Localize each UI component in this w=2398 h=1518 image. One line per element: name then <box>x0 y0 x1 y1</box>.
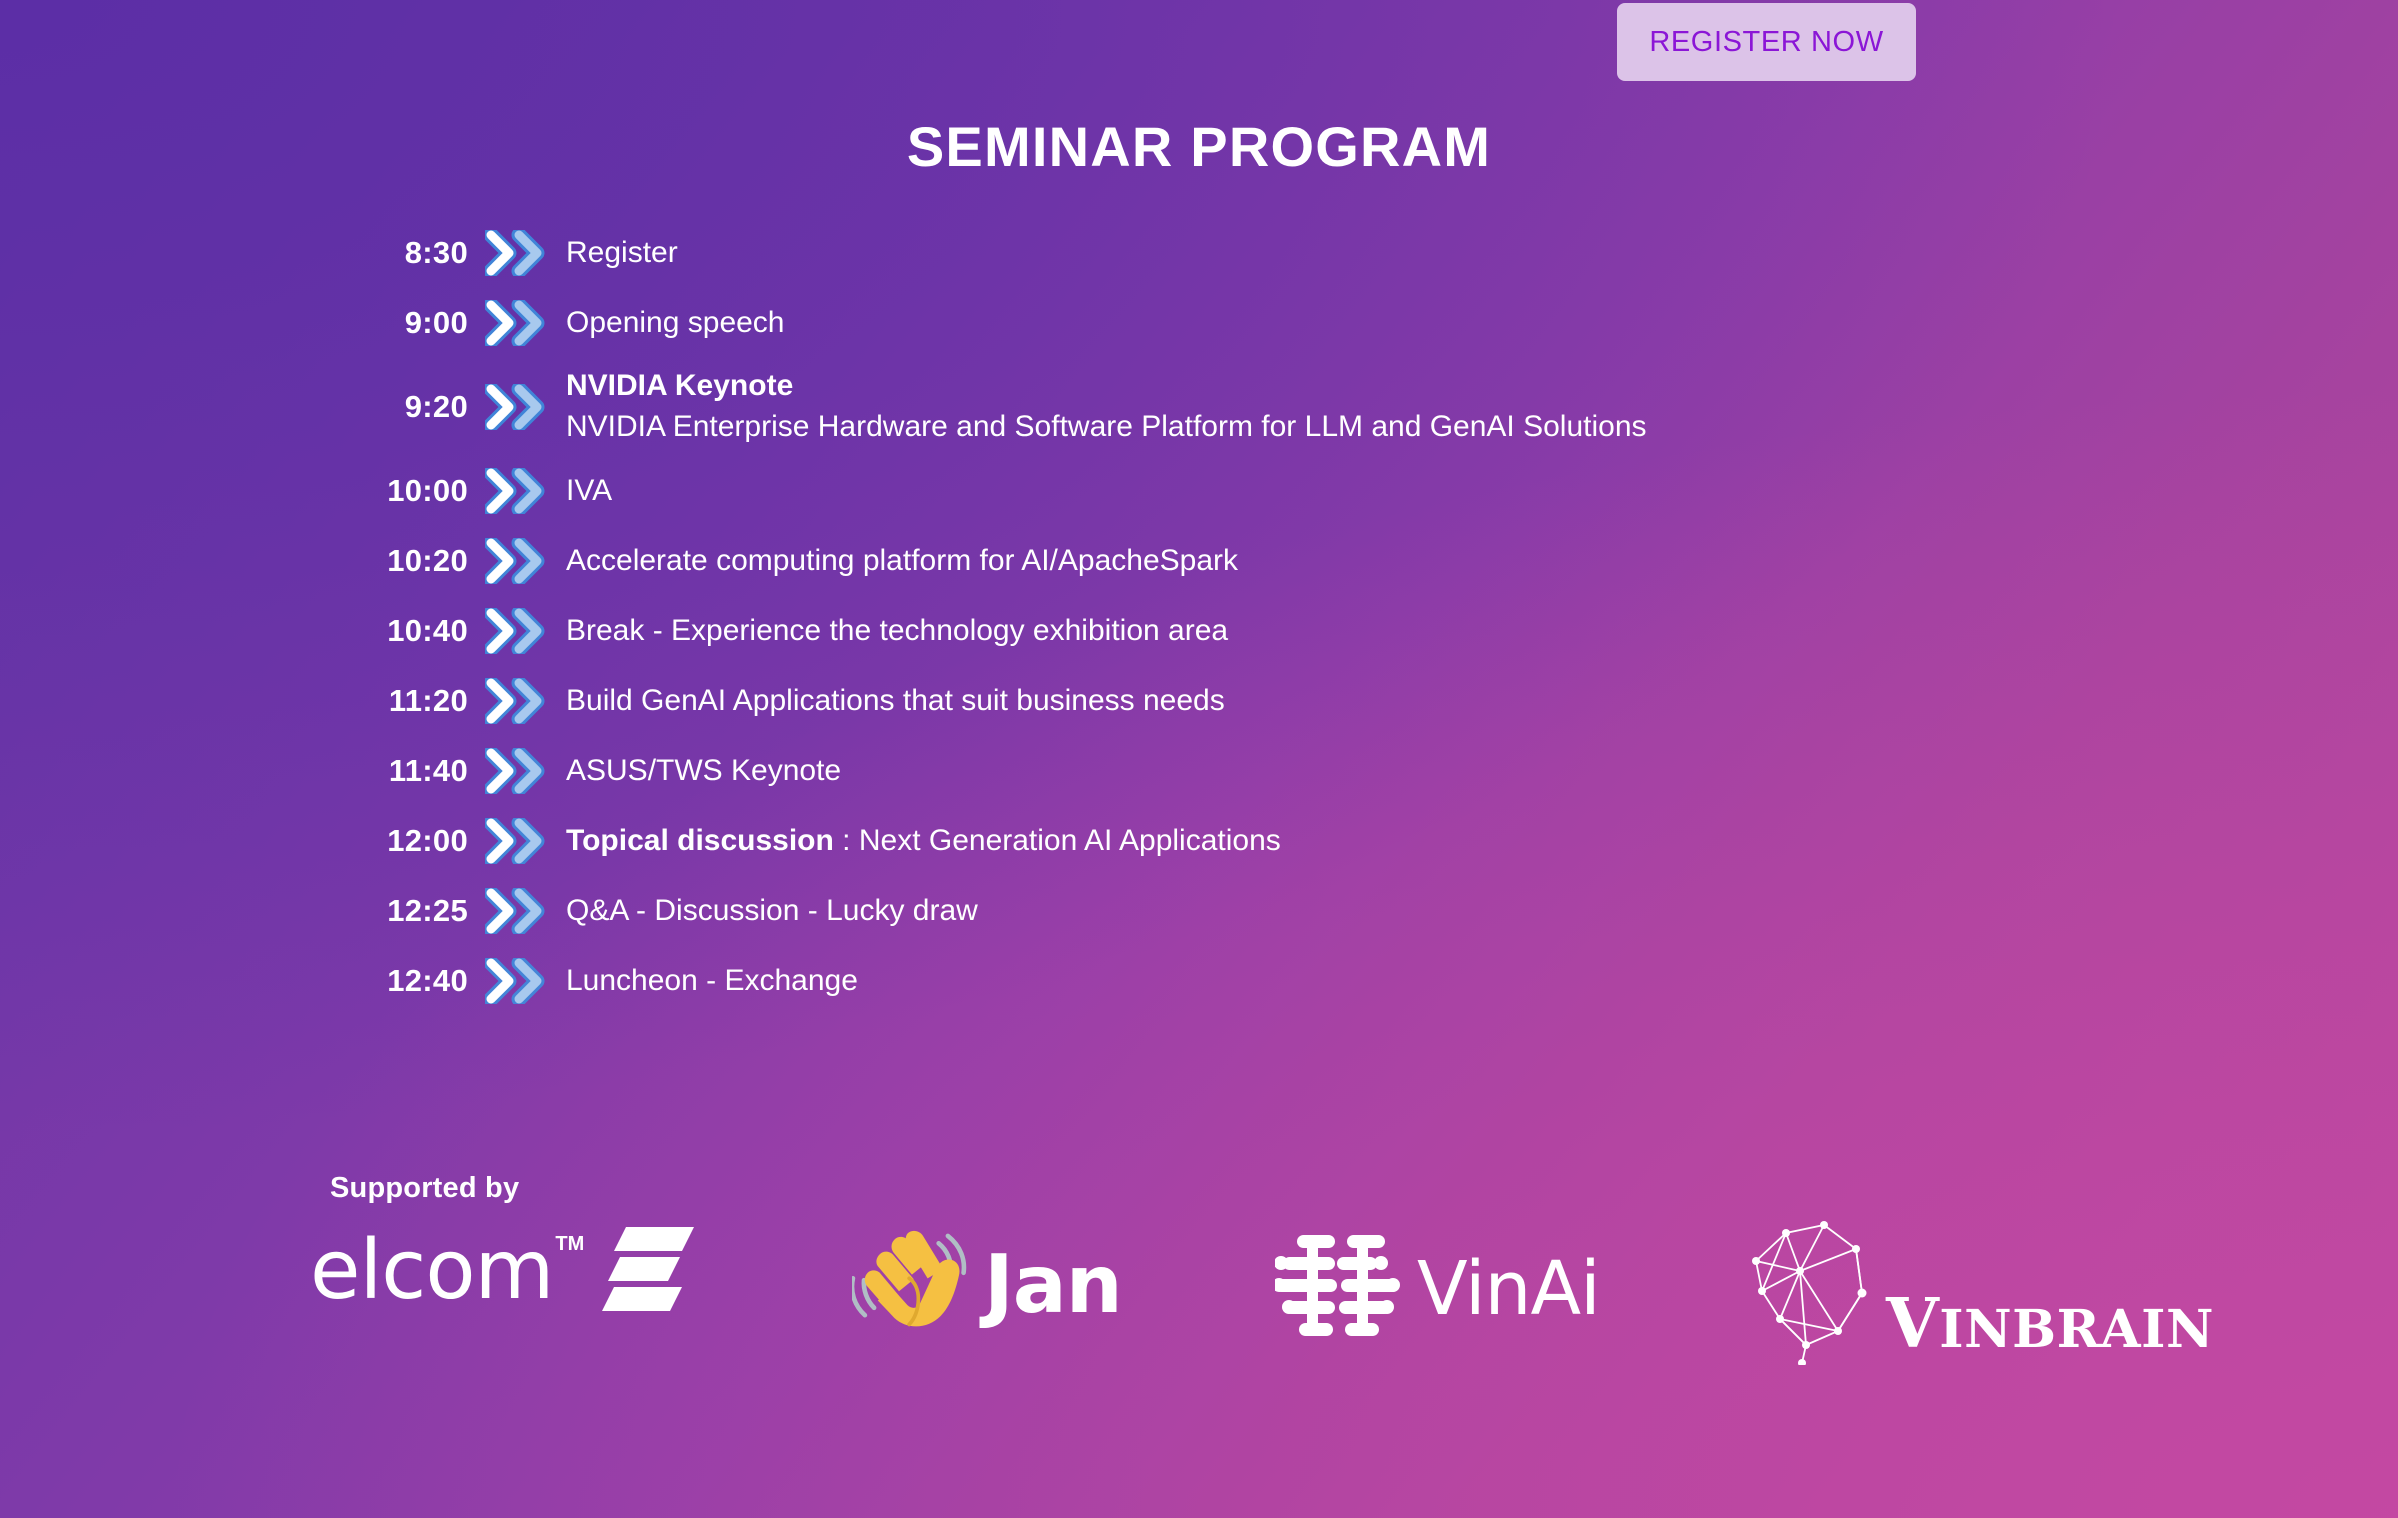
schedule-time: 9:00 <box>330 305 468 341</box>
schedule-subtitle: ASUS/TWS Keynote <box>566 754 841 787</box>
schedule-description: NVIDIA KeynoteNVIDIA Enterprise Hardware… <box>564 366 2030 448</box>
schedule-description: IVA <box>564 471 2030 512</box>
schedule-row: 11:40 ASUS/TWS Keynote <box>330 736 2030 806</box>
schedule-row: 9:20 NVIDIA KeynoteNVIDIA Enterprise Har… <box>330 358 2030 456</box>
schedule-time: 8:30 <box>330 235 468 271</box>
elcom-wordmark: elcom <box>310 1230 553 1312</box>
schedule-time: 10:20 <box>330 543 468 579</box>
register-now-button[interactable]: REGISTER NOW <box>1617 3 1916 81</box>
vinai-wordmark: VinAi <box>1417 1252 1600 1326</box>
schedule-title: Topical discussion <box>566 824 834 857</box>
schedule-time: 10:00 <box>330 473 468 509</box>
schedule-subtitle: : Next Generation AI Applications <box>834 824 1281 857</box>
schedule-time: 11:20 <box>330 683 468 719</box>
double-chevron-icon <box>468 678 564 724</box>
schedule-row: 10:00 IVA <box>330 456 2030 526</box>
schedule-description: Accelerate computing platform for AI/Apa… <box>564 541 2030 582</box>
schedule-row: 8:30 Register <box>330 218 2030 288</box>
double-chevron-icon <box>468 538 564 584</box>
schedule-title: NVIDIA Keynote <box>566 369 793 402</box>
logo-vinai: VinAi <box>1275 1227 1600 1350</box>
schedule-subtitle: Q&A - Discussion - Lucky draw <box>566 894 978 927</box>
schedule-description: ASUS/TWS Keynote <box>564 751 2030 792</box>
seminar-program-slide: REGISTER NOW SEMINAR PROGRAM 8:30 Regist… <box>0 0 2398 1518</box>
waving-hand-icon <box>852 1223 970 1346</box>
double-chevron-icon <box>468 384 564 430</box>
double-chevron-icon <box>468 230 564 276</box>
schedule-description: Q&A - Discussion - Lucky draw <box>564 891 2030 932</box>
double-chevron-icon <box>468 748 564 794</box>
logo-jan: Jan <box>852 1223 1122 1346</box>
schedule-description: Luncheon - Exchange <box>564 961 2030 1002</box>
double-chevron-icon <box>468 468 564 514</box>
elcom-e-icon <box>598 1225 696 1316</box>
schedule-subtitle: Accelerate computing platform for AI/Apa… <box>566 544 1238 577</box>
double-chevron-icon <box>468 818 564 864</box>
elcom-tm-mark: TM <box>555 1233 584 1256</box>
schedule-row: 12:40 Luncheon - Exchange <box>330 946 2030 1016</box>
schedule-subtitle: Luncheon - Exchange <box>566 964 858 997</box>
schedule-subtitle: IVA <box>566 474 612 507</box>
schedule-time: 11:40 <box>330 753 468 789</box>
schedule-subtitle: Break - Experience the technology exhibi… <box>566 614 1228 647</box>
vinbrain-wordmark: VINBRAIN <box>1886 1290 2214 1358</box>
jan-wordmark: Jan <box>984 1245 1122 1325</box>
schedule-subtitle: NVIDIA Enterprise Hardware and Software … <box>566 407 2030 448</box>
double-chevron-icon <box>468 958 564 1004</box>
schedule-description: Topical discussion : Next Generation AI … <box>564 821 2030 862</box>
brain-network-icon <box>1740 1215 1878 1370</box>
schedule-subtitle: Register <box>566 236 678 269</box>
double-chevron-icon <box>468 608 564 654</box>
schedule-time: 10:40 <box>330 613 468 649</box>
schedule-description: Register <box>564 233 2030 274</box>
schedule-subtitle: Build GenAI Applications that suit busin… <box>566 684 1225 717</box>
double-chevron-icon <box>468 888 564 934</box>
logo-vinbrain: VINBRAIN <box>1740 1215 2214 1370</box>
vinai-neural-icon <box>1275 1227 1401 1350</box>
schedule-row: 11:20 Build GenAI Applications that suit… <box>330 666 2030 736</box>
schedule-row: 9:00 Opening speech <box>330 288 2030 358</box>
vinbrain-wordmark-rest: INBRAIN <box>1939 1299 2214 1360</box>
sponsor-logos: elcom TM <box>300 1215 2200 1375</box>
schedule-list: 8:30 Register9:00 Opening speech9:20 NVI… <box>330 218 2030 1016</box>
logo-elcom: elcom TM <box>310 1225 696 1316</box>
schedule-row: 10:40 Break - Experience the technology … <box>330 596 2030 666</box>
vinbrain-wordmark-cap: V <box>1886 1284 1939 1364</box>
schedule-description: Break - Experience the technology exhibi… <box>564 611 2030 652</box>
schedule-row: 12:25 Q&A - Discussion - Lucky draw <box>330 876 2030 946</box>
schedule-subtitle: Opening speech <box>566 306 785 339</box>
schedule-time: 12:40 <box>330 963 468 999</box>
schedule-time: 12:25 <box>330 893 468 929</box>
supported-by-label: Supported by <box>330 1172 519 1205</box>
schedule-time: 9:20 <box>330 389 468 425</box>
schedule-time: 12:00 <box>330 823 468 859</box>
schedule-row: 12:00 Topical discussion : Next Generati… <box>330 806 2030 876</box>
double-chevron-icon <box>468 300 564 346</box>
schedule-description: Build GenAI Applications that suit busin… <box>564 681 2030 722</box>
schedule-description: Opening speech <box>564 303 2030 344</box>
schedule-row: 10:20 Accelerate computing platform for … <box>330 526 2030 596</box>
page-title: SEMINAR PROGRAM <box>0 114 2398 179</box>
